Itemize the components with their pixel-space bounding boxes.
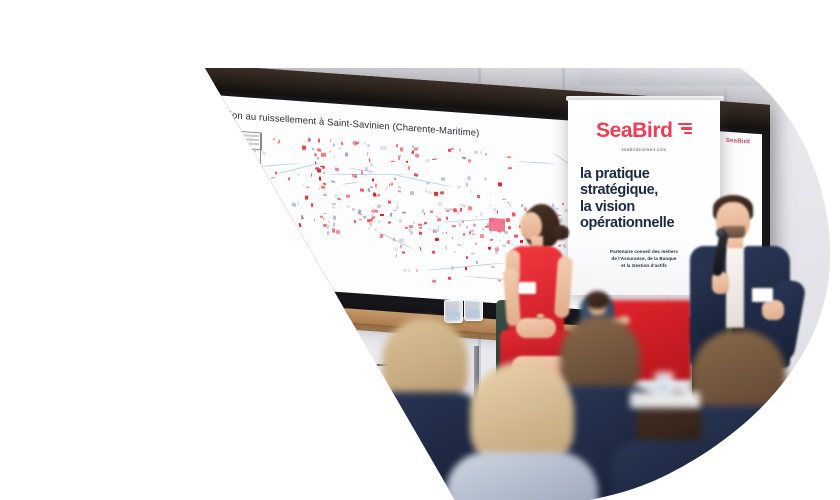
map-building (410, 231, 413, 235)
map-building (452, 225, 457, 227)
map-building (323, 172, 325, 174)
map-building (236, 157, 238, 159)
map-building (509, 203, 511, 207)
map-building (402, 251, 406, 253)
map-building (363, 216, 367, 219)
map-building (414, 147, 419, 151)
map-building (333, 215, 336, 220)
clipped-photo: SeaBird sition au ruissellement à Saint-… (0, 0, 840, 500)
map-building (318, 138, 320, 142)
map-building (358, 218, 361, 221)
map-building (462, 220, 464, 222)
headline-line-2: stratégique, (580, 182, 710, 198)
map-building (413, 221, 415, 224)
map-building (388, 222, 391, 225)
map-building (365, 167, 368, 171)
map-building (436, 217, 441, 221)
map-building (468, 159, 472, 162)
map-building (337, 197, 341, 200)
map-building (520, 203, 523, 207)
map-building (314, 153, 318, 156)
map-building (507, 226, 511, 230)
map-building (506, 240, 510, 245)
map-building (319, 177, 321, 181)
map-building (370, 186, 373, 189)
slide-seabird-logo: SeaBird (726, 138, 750, 146)
map-building (249, 197, 254, 201)
map-building (238, 207, 241, 211)
map-building (460, 208, 462, 212)
map-building (372, 178, 374, 182)
map-building (364, 175, 366, 177)
map-building (273, 138, 275, 140)
map-building (376, 204, 381, 208)
map-building (469, 231, 471, 234)
subtitle-line-3: et la Gestion d'actifs (580, 262, 708, 269)
map-building (435, 228, 440, 231)
map-building (388, 200, 392, 204)
map-building (394, 209, 396, 211)
photo-canvas: SeaBird sition au ruissellement à Saint-… (0, 0, 840, 500)
map-stream (516, 161, 556, 164)
map-building (456, 186, 460, 190)
map-building (352, 141, 357, 146)
map-building (391, 161, 395, 162)
map-building (505, 218, 510, 223)
map-building (321, 166, 325, 170)
map-building (266, 181, 268, 183)
map-building (327, 231, 330, 236)
map-building (389, 212, 392, 216)
map-building (555, 207, 559, 210)
map-building (236, 173, 239, 175)
map-building (311, 173, 313, 177)
map-building (236, 138, 240, 141)
map-building (291, 225, 293, 227)
map-building (410, 191, 414, 195)
map-building (384, 186, 388, 190)
seated-guest-hair (586, 291, 609, 309)
map-building (404, 269, 407, 271)
map-building (245, 216, 249, 220)
map-building (450, 266, 454, 271)
audience-head-2 (560, 316, 640, 396)
map-building (480, 151, 483, 154)
map-building (418, 223, 423, 225)
map-building (398, 219, 401, 222)
map-building (336, 230, 340, 235)
map-building (396, 205, 400, 209)
map-building (468, 207, 472, 211)
map-building (408, 269, 410, 272)
map-building (420, 247, 422, 251)
map-building (551, 203, 554, 207)
map-building (317, 157, 319, 159)
map-building (484, 153, 487, 155)
map-building (250, 157, 252, 160)
map-building (448, 208, 451, 211)
map-building (236, 216, 238, 218)
map-building (329, 151, 331, 152)
headline-line-4: opérationnelle (580, 215, 710, 231)
map-building (360, 171, 363, 175)
map-building (330, 139, 331, 142)
map-building (493, 292, 495, 295)
map-building (367, 215, 370, 217)
map-building (334, 168, 338, 172)
map-building (462, 205, 467, 208)
map-building (475, 215, 476, 217)
map-building (339, 148, 342, 150)
map-stream (243, 163, 301, 169)
map-building (498, 182, 503, 187)
map-building (288, 177, 291, 180)
bird-bars-icon (678, 123, 692, 136)
banner-logo: SeaBird (568, 119, 720, 143)
woman-hands (516, 318, 556, 338)
map-building (432, 159, 437, 161)
map-building (394, 246, 399, 251)
audience-body-3 (446, 452, 598, 500)
map-building (428, 191, 432, 193)
audience-head-3 (470, 362, 574, 466)
audience-head-1 (382, 318, 468, 402)
map-building (508, 167, 512, 169)
map-building (442, 233, 444, 236)
map-building (473, 223, 476, 226)
map-building (397, 190, 400, 193)
map-building (374, 209, 379, 213)
map-stream (342, 181, 358, 185)
map-building (331, 180, 335, 183)
map-building (367, 226, 370, 230)
map-building (297, 173, 300, 176)
map-building (314, 219, 316, 221)
map-building (363, 142, 365, 145)
map-building (322, 218, 323, 220)
map-building (456, 244, 460, 247)
map-building (519, 240, 522, 244)
map-building (320, 185, 324, 188)
map-building (370, 163, 373, 167)
map-building (425, 159, 430, 162)
map-building (466, 176, 471, 181)
map-building (279, 199, 282, 202)
microphone-head (716, 228, 726, 238)
map-building (266, 188, 270, 192)
map-building (370, 210, 374, 213)
map-building (511, 244, 514, 246)
map-building (312, 148, 314, 150)
map-building (470, 190, 473, 193)
map-building (454, 251, 456, 254)
map-building (299, 223, 302, 227)
map-building (513, 235, 518, 239)
map-building (475, 243, 477, 245)
map-building (399, 238, 404, 243)
subtitle-line-1: Partenaire conseil des métiers (580, 248, 708, 255)
map-building (367, 144, 371, 148)
map-building (347, 205, 350, 207)
map-building (445, 245, 447, 249)
map-building (341, 142, 343, 145)
map-building (396, 254, 398, 258)
map-building (471, 252, 475, 254)
headline-line-1: la pratique (580, 166, 710, 182)
map-building (426, 182, 430, 184)
map-building (524, 207, 527, 211)
map-building (525, 243, 527, 244)
map-building (374, 228, 377, 230)
map-building (393, 178, 395, 180)
map-building (321, 153, 326, 157)
map-building (414, 173, 418, 177)
map-building (236, 179, 238, 182)
map-building (499, 240, 501, 242)
map-building (332, 203, 336, 205)
map-building (360, 189, 364, 193)
map-building (400, 244, 403, 248)
map-building (277, 140, 280, 144)
map-building (502, 244, 506, 247)
map-building (311, 203, 313, 207)
map-building (476, 261, 479, 264)
map-building (380, 233, 384, 238)
map-building (434, 192, 438, 196)
map-building (494, 247, 499, 252)
subtitle-line-2: de l'Assurance, de la Banque (580, 255, 708, 262)
map-building (474, 150, 479, 154)
map-building (446, 232, 447, 234)
man-name-badge (752, 288, 773, 302)
map-building (375, 183, 377, 187)
map-building (450, 147, 454, 150)
map-building (432, 280, 436, 283)
map-building (440, 191, 445, 195)
map-building (236, 209, 240, 212)
map-building (423, 223, 425, 225)
map-building (466, 256, 469, 259)
map-building (367, 152, 369, 156)
map-building (298, 201, 300, 205)
map-building (236, 132, 241, 136)
map-building (344, 152, 348, 156)
map-building (328, 221, 330, 223)
banner-subtitle: Partenaire conseil des métiers de l'Assu… (580, 248, 708, 269)
map-building (438, 203, 443, 207)
map-building (247, 145, 250, 149)
map-highlighted-parcel (489, 218, 505, 232)
map-building (301, 217, 304, 220)
map-building (419, 226, 422, 229)
woman-hair-bun (552, 225, 569, 240)
map-building (369, 158, 371, 162)
map-building (240, 221, 243, 225)
map-building (326, 224, 329, 228)
map-building (292, 202, 297, 207)
map-building (236, 198, 241, 203)
map-building (334, 156, 336, 159)
map-building (380, 214, 384, 216)
map-building (415, 153, 420, 158)
map-building (430, 211, 433, 213)
map-building (262, 150, 267, 154)
water-glass-2 (464, 298, 483, 321)
map-building (401, 212, 405, 214)
map-building (271, 176, 276, 178)
map-building (462, 156, 467, 159)
map-building (558, 245, 561, 247)
map-building (507, 156, 511, 158)
map-building (489, 205, 492, 207)
map-building (248, 174, 252, 177)
map-building (333, 223, 335, 227)
map-building (446, 217, 448, 220)
banner-headline: la pratique stratégique, la vision opéra… (580, 166, 710, 232)
map-building (407, 166, 410, 170)
map-building (479, 212, 483, 217)
map-building (447, 277, 450, 280)
map-building (416, 269, 418, 271)
map-building (432, 251, 435, 255)
woman-watch (537, 314, 544, 319)
map-building (498, 279, 501, 282)
map-building (323, 213, 327, 215)
map-building (502, 199, 507, 201)
map-building (332, 144, 335, 148)
map-building (345, 195, 350, 199)
headline-line-3: la vision (580, 199, 710, 215)
audience-body-5 (612, 440, 722, 500)
map-building (441, 178, 446, 181)
woman-name-badge (518, 282, 536, 294)
map-building (477, 195, 480, 198)
map-building (443, 208, 448, 211)
map-building (274, 192, 276, 194)
map-building (562, 203, 565, 206)
map-building (400, 147, 403, 151)
man-hand-gesture (762, 300, 784, 320)
table-leg-left (318, 338, 323, 404)
map-building (397, 186, 400, 189)
map-building (258, 180, 261, 183)
map-building (352, 208, 355, 212)
map-building (249, 152, 252, 155)
map-building (303, 185, 305, 187)
map-building (416, 281, 419, 285)
map-building (481, 228, 483, 230)
map-building (424, 212, 426, 215)
map-building (354, 220, 357, 224)
map-building (331, 207, 334, 209)
map-building (480, 234, 484, 238)
map-building (458, 148, 460, 151)
map-building (367, 188, 370, 192)
map-building (391, 183, 394, 186)
map-building (515, 214, 517, 217)
map-building (377, 220, 381, 222)
map-building (442, 248, 444, 250)
audience-table (630, 392, 700, 408)
map-building (484, 178, 487, 181)
map-building (285, 226, 290, 231)
map-building (435, 238, 440, 242)
map-building (429, 228, 431, 230)
map-building (464, 267, 466, 270)
banner-url: seabirdconseil.com (568, 147, 720, 152)
map-building (488, 246, 491, 249)
map-building (306, 186, 309, 188)
map-building (467, 285, 470, 289)
map-building (323, 194, 327, 196)
map-building (489, 192, 491, 195)
map-legend-leader (260, 132, 261, 192)
map-building (463, 233, 466, 237)
map-building (458, 223, 461, 227)
map-building (368, 222, 371, 226)
map-building (491, 265, 495, 268)
map-building (304, 196, 307, 201)
banner-logo-text: SeaBird (596, 119, 673, 143)
map-building (472, 234, 475, 236)
map-building (406, 160, 408, 162)
map-building (490, 239, 493, 241)
map-building (466, 225, 468, 228)
map-building (285, 222, 289, 225)
map-building (485, 288, 488, 292)
map-building (333, 193, 338, 197)
map-building (419, 232, 423, 236)
map-building (262, 200, 266, 203)
map-building (236, 184, 240, 187)
map-building (452, 237, 454, 239)
map-building (396, 144, 398, 147)
water-glass-1 (444, 300, 463, 323)
conference-photograph: SeaBird sition au ruissellement à Saint-… (0, 0, 840, 500)
